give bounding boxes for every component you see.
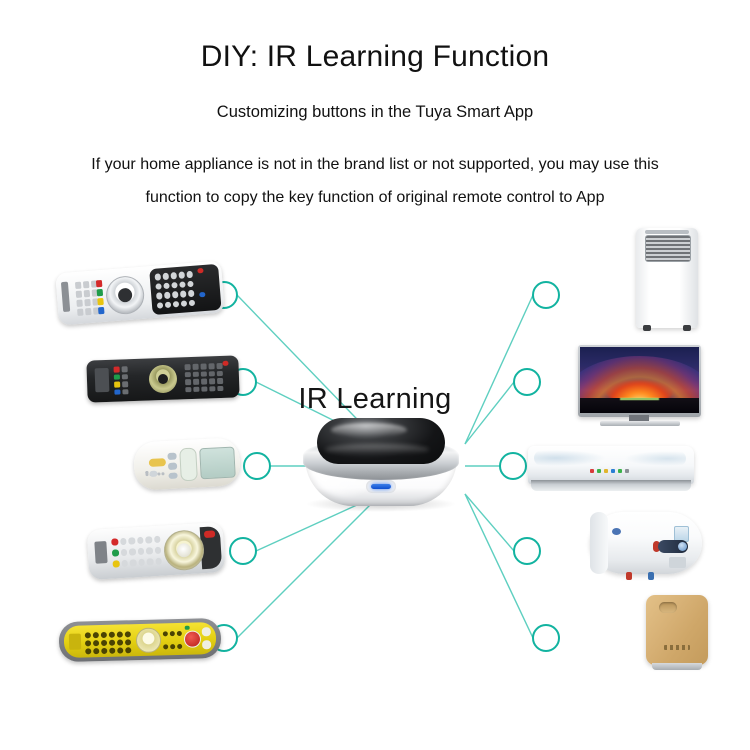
remote-key: [120, 549, 127, 556]
remote-key: [157, 472, 160, 475]
remote-key: [129, 548, 136, 555]
connector-node-split-air-conditioner[interactable]: [500, 453, 526, 479]
remote-key: [186, 271, 192, 278]
remote-key: [97, 289, 103, 296]
remote-key: [85, 308, 91, 315]
appliance-foot: [683, 325, 691, 331]
remote-yellow[interactable]: [59, 618, 222, 662]
appliance-body: [646, 595, 708, 665]
remote-key: [113, 560, 120, 567]
remote-key: [146, 547, 153, 554]
remote-key: [138, 559, 145, 566]
remote-key: [114, 367, 120, 373]
television[interactable]: [578, 345, 701, 430]
led-indicator: [597, 469, 601, 473]
remote-key: [85, 648, 91, 654]
hub-dome-gloss-2: [325, 444, 429, 455]
connector-node-universal-remote[interactable]: [230, 538, 256, 564]
led-indicator: [590, 469, 594, 473]
remote-key: [168, 463, 177, 470]
remote-key: [209, 378, 215, 384]
remote-key: [178, 271, 184, 278]
remote-key: [164, 292, 170, 299]
remote-key: [93, 632, 99, 638]
tv-stand-base: [600, 421, 680, 426]
tank-end-cap: [590, 512, 608, 574]
remote-key: [185, 379, 191, 385]
diagram-canvas: DIY: IR Learning Function Customizing bu…: [0, 0, 750, 750]
remote-key: [201, 378, 207, 384]
remote-key: [200, 363, 206, 369]
remote-key: [122, 389, 128, 395]
remote-key: [201, 386, 207, 392]
remote-key: [185, 626, 190, 630]
remote-key: [193, 386, 199, 392]
remote-key: [168, 473, 177, 479]
display-knob: [678, 542, 687, 551]
remote-lcd-display: [199, 447, 236, 480]
remote-key: [137, 548, 144, 555]
remote-key: [172, 291, 178, 298]
ir-blaster-hub[interactable]: [297, 418, 465, 513]
remote-universal[interactable]: [87, 522, 226, 580]
remote-key: [201, 371, 207, 377]
remote-tv-black[interactable]: [86, 355, 239, 402]
remote-key: [111, 538, 118, 545]
remote-key: [76, 300, 82, 307]
remote-key: [94, 541, 107, 564]
remote-key: [193, 379, 199, 385]
remote-key: [185, 372, 191, 378]
remote-key: [125, 647, 131, 653]
remote-key: [177, 631, 182, 636]
remote-key: [185, 387, 191, 393]
remote-key: [163, 273, 169, 280]
remote-key: [154, 547, 161, 554]
remote-key: [155, 273, 161, 280]
water-heater[interactable]: [590, 512, 702, 582]
control-panel: [645, 230, 689, 234]
status-led-icon: [371, 484, 391, 489]
brand-text: [664, 645, 690, 650]
remote-key: [121, 560, 128, 567]
vent-grille-icon: [645, 235, 691, 262]
connector-node-water-heater[interactable]: [514, 538, 540, 564]
remote-key: [98, 307, 104, 314]
remote-key: [217, 385, 223, 391]
remote-key: [208, 363, 214, 369]
hub-dome-gloss: [331, 423, 407, 437]
connector-node-ac-remote-lcd[interactable]: [244, 453, 270, 479]
remote-key: [145, 536, 152, 543]
connector-node-portable-air-conditioner[interactable]: [533, 282, 559, 308]
portable-air-conditioner[interactable]: [636, 228, 698, 328]
appliance-base: [652, 663, 702, 670]
led-indicator-row: [590, 469, 634, 473]
remote-key: [95, 368, 110, 392]
remote-key: [96, 280, 102, 287]
remote-key: [184, 364, 190, 370]
remote-key: [109, 640, 115, 646]
led-indicator: [618, 469, 622, 473]
remote-key: [122, 366, 128, 372]
remote-key: [163, 644, 168, 649]
remote-key: [97, 298, 103, 305]
remote-key: [83, 281, 89, 288]
remote-key: [146, 558, 153, 565]
tv-screen: [580, 347, 699, 413]
remote-key: [114, 374, 120, 380]
remote-key: [193, 371, 199, 377]
remote-key: [84, 290, 90, 297]
remote-key: [188, 290, 194, 297]
cold-water-pipe: [648, 572, 654, 580]
remote-key: [222, 361, 228, 366]
remote-key: [128, 537, 135, 544]
remote-key: [202, 627, 211, 636]
remote-key: [192, 364, 198, 370]
remote-key: [154, 536, 161, 543]
remote-key: [129, 559, 136, 566]
led-indicator: [611, 469, 615, 473]
remote-key: [137, 537, 144, 544]
remote-key: [145, 471, 148, 474]
remote-key: [122, 374, 128, 380]
remote-key: [180, 290, 186, 297]
remote-swing-key: [179, 447, 198, 481]
control-keys: [669, 557, 686, 568]
appliance-foot: [643, 325, 651, 331]
carry-handle: [659, 602, 677, 613]
remote-key: [112, 549, 119, 556]
split-air-conditioner[interactable]: [528, 446, 694, 494]
connector-line: [237, 494, 381, 638]
remote-key: [170, 631, 175, 636]
remote-key: [202, 640, 211, 649]
remote-key: [156, 292, 162, 299]
remote-key: [77, 309, 83, 316]
led-indicator: [625, 469, 629, 473]
connector-line: [465, 494, 533, 638]
remote-key: [114, 382, 120, 388]
remote-key: [170, 644, 175, 649]
remote-power-key: [149, 458, 166, 467]
remote-key: [209, 371, 215, 377]
remote-key: [69, 634, 81, 650]
screen-horizon: [580, 398, 699, 413]
air-vent: [531, 480, 691, 491]
floral-pattern: [534, 450, 606, 466]
brand-logo: [612, 528, 621, 535]
remote-key: [170, 272, 176, 279]
hot-water-pipe: [626, 572, 632, 580]
remote-key: [209, 386, 215, 392]
connector-line: [465, 494, 514, 551]
remote-key: [217, 370, 223, 376]
floral-pattern: [624, 451, 686, 466]
remote-ac-lcd[interactable]: [133, 437, 241, 490]
remote-key: [217, 378, 223, 384]
connector-node-air-purifier[interactable]: [533, 625, 559, 651]
air-purifier[interactable]: [646, 595, 708, 673]
remote-key: [155, 558, 162, 565]
remote-power-key: [204, 530, 215, 538]
remote-key: [84, 299, 90, 306]
remote-key: [177, 644, 182, 649]
remote-key: [76, 291, 82, 298]
remote-key: [149, 471, 157, 477]
remote-key: [120, 538, 127, 545]
remote-key: [75, 282, 81, 289]
remote-key: [167, 453, 176, 460]
remote-key: [114, 389, 120, 395]
remote-key: [122, 381, 128, 387]
led-indicator: [604, 469, 608, 473]
screen-green-band: [620, 398, 658, 400]
